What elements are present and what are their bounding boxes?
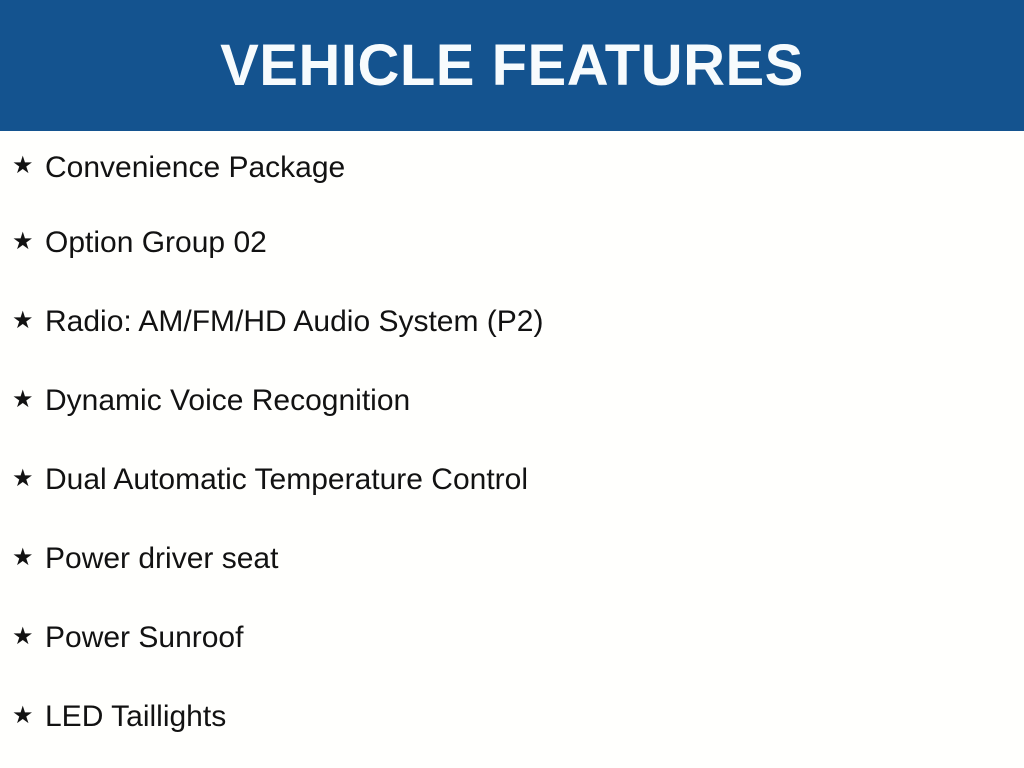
star-icon: ★ <box>12 230 34 254</box>
feature-label: Convenience Package <box>45 151 345 184</box>
vehicle-features-list: ★ Convenience Package ★ Option Group 02 … <box>0 131 1024 768</box>
list-item: ★ Dual Automatic Temperature Control <box>0 440 1024 519</box>
star-icon: ★ <box>12 704 34 728</box>
star-icon: ★ <box>12 467 34 491</box>
star-icon: ★ <box>12 625 34 649</box>
list-item: ★ Power Sunroof <box>0 598 1024 677</box>
feature-label: Radio: AM/FM/HD Audio System (P2) <box>45 305 544 338</box>
list-item: ★ Option Group 02 <box>0 203 1024 282</box>
star-icon: ★ <box>12 388 34 412</box>
list-item: ★ LED Taillights <box>0 677 1024 756</box>
star-icon: ★ <box>12 154 34 178</box>
feature-label: Power driver seat <box>45 542 278 575</box>
feature-label: Dynamic Voice Recognition <box>45 384 410 417</box>
star-icon: ★ <box>12 309 34 333</box>
feature-label: Dual Automatic Temperature Control <box>45 463 528 496</box>
page-title: VEHICLE FEATURES <box>200 37 824 95</box>
vehicle-features-slide: VEHICLE FEATURES ★ Convenience Package ★… <box>0 0 1024 768</box>
list-item: ★ Radio: AM/FM/HD Audio System (P2) <box>0 282 1024 361</box>
feature-label: Power Sunroof <box>45 621 243 654</box>
title-banner: VEHICLE FEATURES <box>0 0 1024 131</box>
feature-label: LED Taillights <box>45 700 226 733</box>
feature-label: Option Group 02 <box>45 226 267 259</box>
list-item: ★ Power driver seat <box>0 519 1024 598</box>
list-item: ★ Dynamic Voice Recognition <box>0 361 1024 440</box>
list-item: ★ Convenience Package <box>0 131 1024 203</box>
star-icon: ★ <box>12 546 34 570</box>
